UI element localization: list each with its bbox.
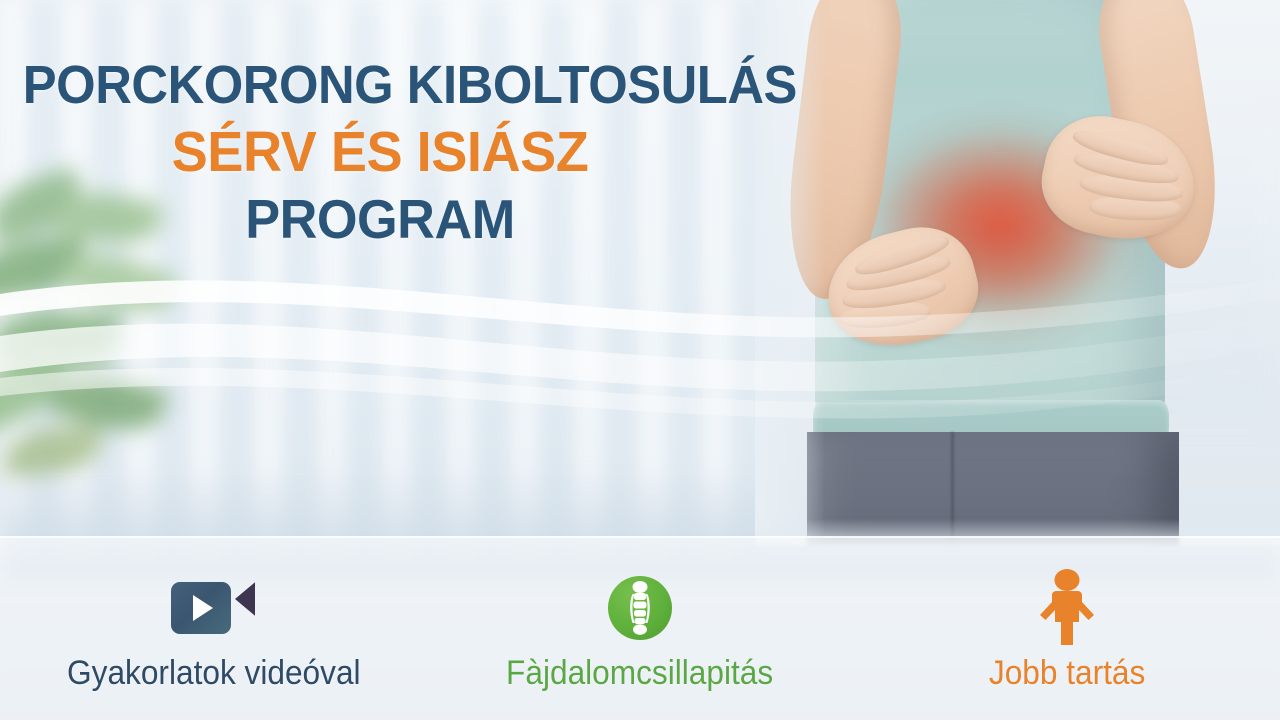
feature-item-pain-relief[interactable]: Fàjdalomcsillapitás [427,536,854,690]
standing-person-icon [1036,570,1098,646]
feature-list: Gyakorlatok videóval [0,536,1280,720]
feature-item-posture[interactable]: Jobb tartás [853,536,1280,690]
spine-circle-icon [608,570,672,646]
feature-item-video[interactable]: Gyakorlatok videóval [0,536,427,690]
spine-glyph [623,581,657,635]
headline-line-1: PORCKORONG KIBOLTOSULÁS [23,58,737,113]
person-glyph [1036,569,1098,647]
headline-line-2: SÉRV ÉS ISIÁSZ [19,123,741,181]
promo-banner: PORCKORONG KIBOLTOSULÁS SÉRV ÉS ISIÁSZ P… [0,0,1280,720]
video-camera-icon [171,570,255,646]
feature-label-video: Gyakorlatok videóval [67,656,361,690]
headline-line-3: PROGRAM [19,191,741,247]
decorative-waves [0,250,1280,480]
feature-label-pain-relief: Fàjdalomcsillapitás [506,656,773,690]
feature-label-posture: Jobb tartás [988,656,1144,690]
headline: PORCKORONG KIBOLTOSULÁS SÉRV ÉS ISIÁSZ P… [0,58,760,247]
